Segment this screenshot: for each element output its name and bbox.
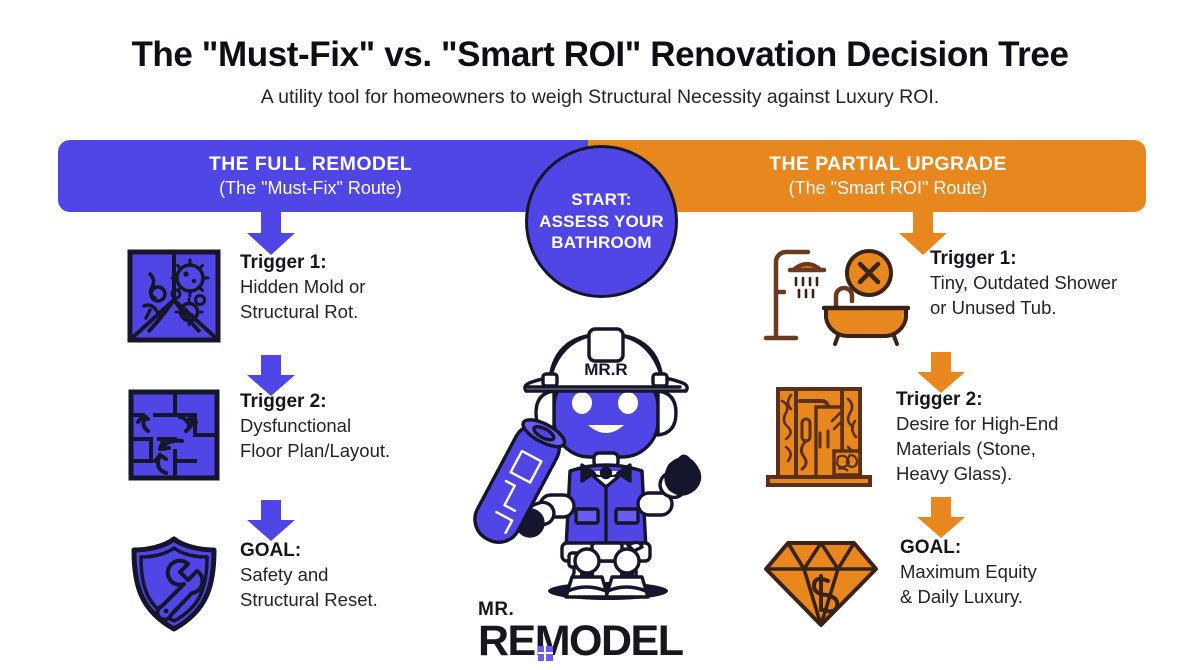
step-left-3[interactable]: GOAL: Safety and Structural Reset. — [126, 536, 378, 637]
stone-shower-icon — [760, 385, 878, 498]
diamond-dollar-icon — [760, 533, 882, 634]
start-line-1: START: — [539, 189, 664, 210]
step-right-1-line1: Tiny, Outdated Shower — [930, 271, 1117, 295]
step-left-2-line1: Dysfunctional — [240, 414, 390, 438]
step-left-3-line2: Structural Reset. — [240, 588, 378, 612]
banner-right-subtitle: (The "Smart ROI" Route) — [789, 178, 988, 199]
mr-remodel-robot-mascot: MR.R — [470, 295, 740, 605]
step-left-3-line1: Safety and — [240, 563, 378, 587]
svg-text:MR.R: MR.R — [584, 360, 627, 379]
banner-left-title: THE FULL REMODEL — [209, 153, 412, 176]
step-right-2-line1: Desire for High-End — [896, 412, 1058, 436]
arrow-down-right-1 — [897, 211, 949, 256]
step-right-3-line1: Maximum Equity — [900, 560, 1037, 584]
floor-plan-icon — [126, 387, 222, 488]
step-right-1-head: Trigger 1: — [930, 248, 1117, 270]
window-icon — [538, 646, 553, 661]
arrow-down-right-3 — [915, 497, 967, 539]
step-right-3[interactable]: GOAL: Maximum Equity & Daily Luxury. — [760, 533, 1037, 634]
shower-tub-x-icon — [760, 244, 912, 351]
header: The "Must-Fix" vs. "Smart ROI" Renovatio… — [0, 0, 1200, 109]
banner-left-subtitle: (The "Must-Fix" Route) — [219, 178, 402, 199]
page-subtitle: A utility tool for homeowners to weigh S… — [0, 86, 1200, 109]
start-line-3: BATHROOM — [539, 232, 664, 253]
step-right-3-head: GOAL: — [900, 537, 1037, 559]
step-left-1[interactable]: Trigger 1: Hidden Mold or Structural Rot… — [126, 248, 365, 349]
step-left-1-line1: Hidden Mold or — [240, 275, 365, 299]
shield-wrench-icon — [126, 536, 222, 637]
arrow-down-right-2 — [915, 352, 967, 394]
step-right-1[interactable]: Trigger 1: Tiny, Outdated Shower or Unus… — [760, 244, 1117, 351]
step-left-2[interactable]: Trigger 2: Dysfunctional Floor Plan/Layo… — [126, 387, 390, 488]
mold-wall-icon — [126, 248, 222, 349]
arrow-down-left-1 — [245, 211, 297, 256]
step-right-2-line3: Heavy Glass). — [896, 462, 1058, 486]
page-title: The "Must-Fix" vs. "Smart ROI" Renovatio… — [0, 35, 1200, 75]
step-right-2-line2: Materials (Stone, — [896, 437, 1058, 461]
logo-remodel-text: REMODEL — [478, 620, 683, 663]
step-right-3-line2: & Daily Luxury. — [900, 585, 1037, 609]
arrow-down-left-3 — [245, 500, 297, 542]
brand-logo: MR. REMODEL — [478, 600, 738, 663]
step-left-2-line2: Floor Plan/Layout. — [240, 439, 390, 463]
start-line-2: ASSESS YOUR — [539, 211, 664, 232]
banner-right-title: THE PARTIAL UPGRADE — [769, 153, 1007, 176]
start-node[interactable]: START: ASSESS YOUR BATHROOM — [525, 145, 678, 298]
step-right-1-line2: or Unused Tub. — [930, 296, 1117, 320]
step-right-2[interactable]: Trigger 2: Desire for High-End Materials… — [760, 385, 1058, 498]
step-left-3-head: GOAL: — [240, 540, 378, 562]
arrow-down-left-2 — [245, 355, 297, 397]
step-left-1-line2: Structural Rot. — [240, 300, 365, 324]
